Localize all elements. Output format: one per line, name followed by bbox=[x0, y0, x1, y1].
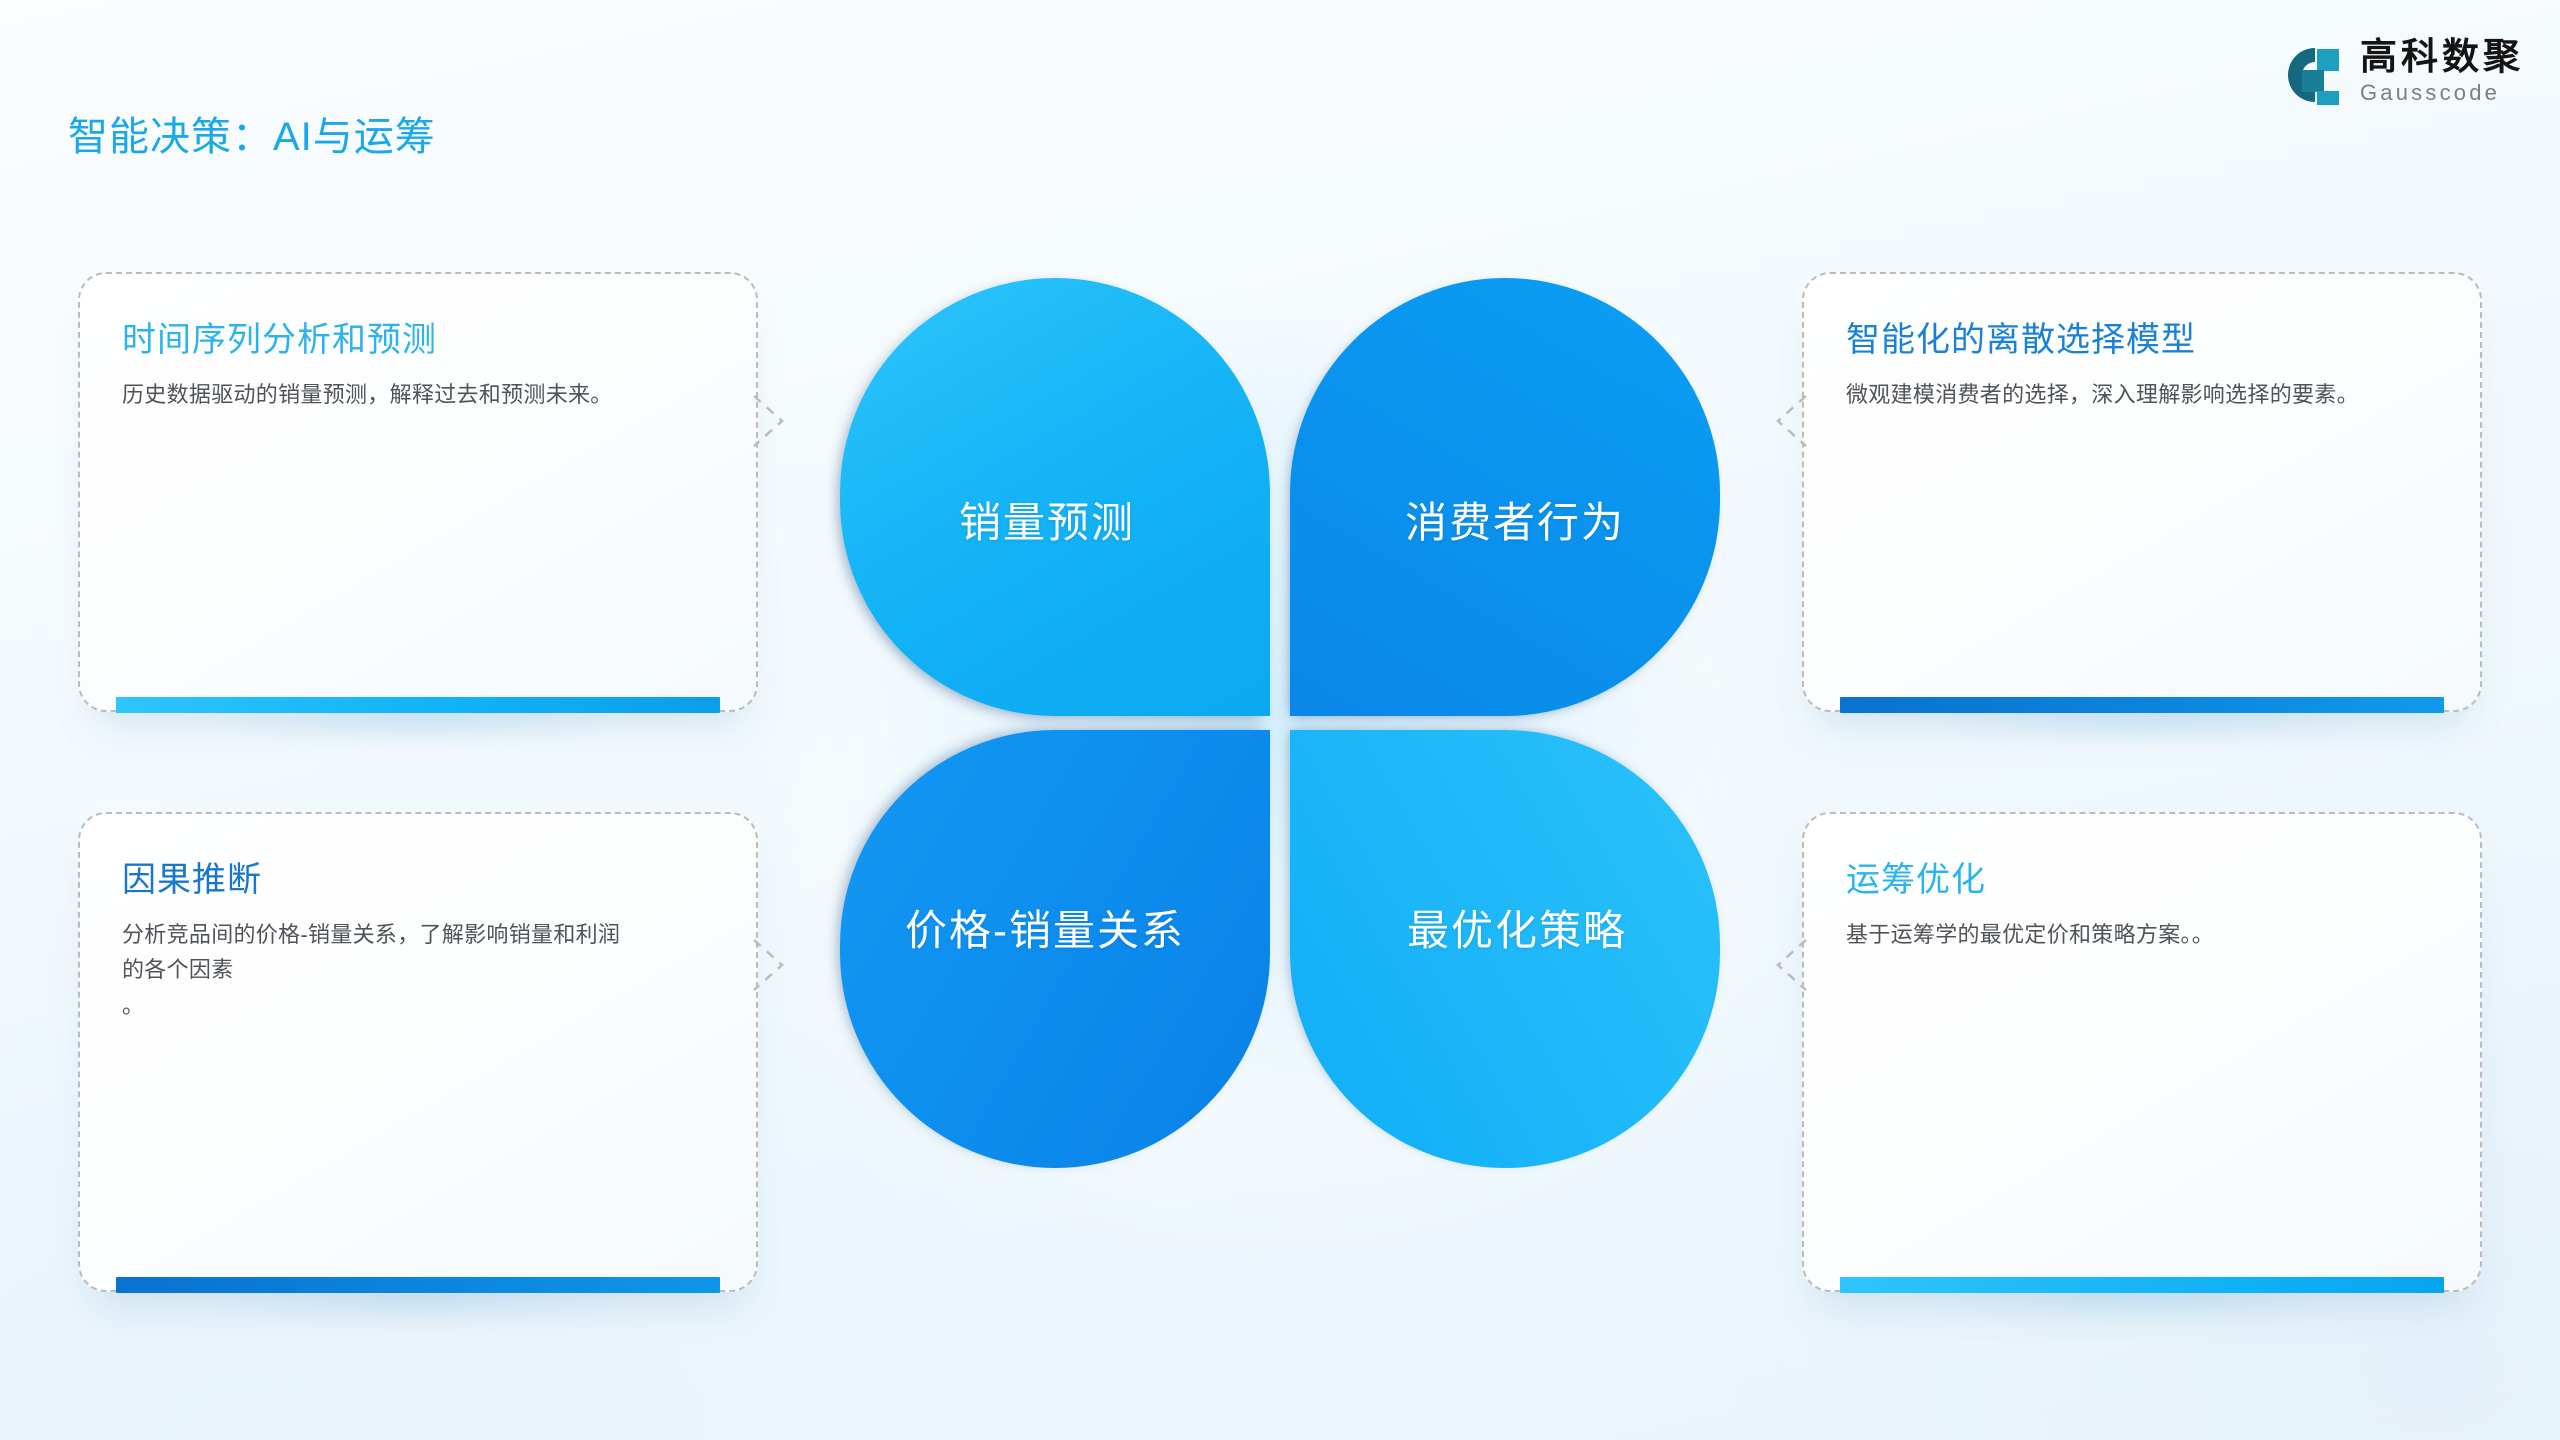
gausscode-logo-mark-icon bbox=[2284, 44, 2346, 106]
chevron-left-icon bbox=[1770, 390, 1808, 452]
chevron-right-icon bbox=[752, 390, 790, 452]
card-title: 因果推断 bbox=[122, 860, 714, 901]
card-body: 分析竞品间的价格-销量关系，了解影响销量和利润的各个因素 。 bbox=[122, 917, 642, 1024]
petal-label: 销量预测 bbox=[959, 489, 1135, 550]
petal-label: 最优化策略 bbox=[1407, 897, 1627, 958]
chevron-left-icon bbox=[1770, 934, 1808, 996]
page-title: 智能决策：AI与运筹 bbox=[68, 104, 436, 162]
card-body: 历史数据驱动的销量预测，解释过去和预测未来。 bbox=[122, 377, 622, 413]
card-title: 运筹优化 bbox=[1846, 860, 2438, 901]
card-accent-bar bbox=[116, 1277, 720, 1293]
card-accent-bar bbox=[1840, 1277, 2444, 1293]
four-petal-diagram: 销量预测 消费者行为 价格-销量关系 最优化策略 bbox=[840, 278, 1720, 1168]
logo-en-text: Gausscode bbox=[2360, 82, 2524, 104]
logo-cn-text: 高科数聚 bbox=[2360, 38, 2524, 75]
card-discrete-choice[interactable]: 智能化的离散选择模型 微观建模消费者的选择，深入理解影响选择的要素。 bbox=[1802, 272, 2482, 712]
petal-sales-forecast[interactable]: 销量预测 bbox=[840, 278, 1270, 716]
card-title: 时间序列分析和预测 bbox=[122, 320, 714, 361]
petal-consumer-behavior[interactable]: 消费者行为 bbox=[1290, 278, 1720, 716]
card-time-series[interactable]: 时间序列分析和预测 历史数据驱动的销量预测，解释过去和预测未来。 bbox=[78, 272, 758, 712]
card-title: 智能化的离散选择模型 bbox=[1846, 320, 2438, 361]
petal-price-volume[interactable]: 价格-销量关系 bbox=[840, 730, 1270, 1168]
chevron-right-icon bbox=[752, 934, 790, 996]
petal-label: 消费者行为 bbox=[1405, 489, 1625, 550]
card-body: 微观建模消费者的选择，深入理解影响选择的要素。 bbox=[1846, 377, 2391, 413]
card-causal-inference[interactable]: 因果推断 分析竞品间的价格-销量关系，了解影响销量和利润的各个因素 。 bbox=[78, 812, 758, 1292]
card-operations-research[interactable]: 运筹优化 基于运筹学的最优定价和策略方案。。 bbox=[1802, 812, 2482, 1292]
card-accent-bar bbox=[116, 697, 720, 713]
slide-header: 智能决策：AI与运筹 高科数聚 Gausscode bbox=[0, 0, 2560, 160]
petal-optimal-strategy[interactable]: 最优化策略 bbox=[1290, 730, 1720, 1168]
brand-logo: 高科数聚 Gausscode bbox=[2284, 38, 2524, 106]
petal-label: 价格-销量关系 bbox=[905, 897, 1185, 958]
card-accent-bar bbox=[1840, 697, 2444, 713]
card-body: 基于运筹学的最优定价和策略方案。。 bbox=[1846, 917, 2406, 953]
